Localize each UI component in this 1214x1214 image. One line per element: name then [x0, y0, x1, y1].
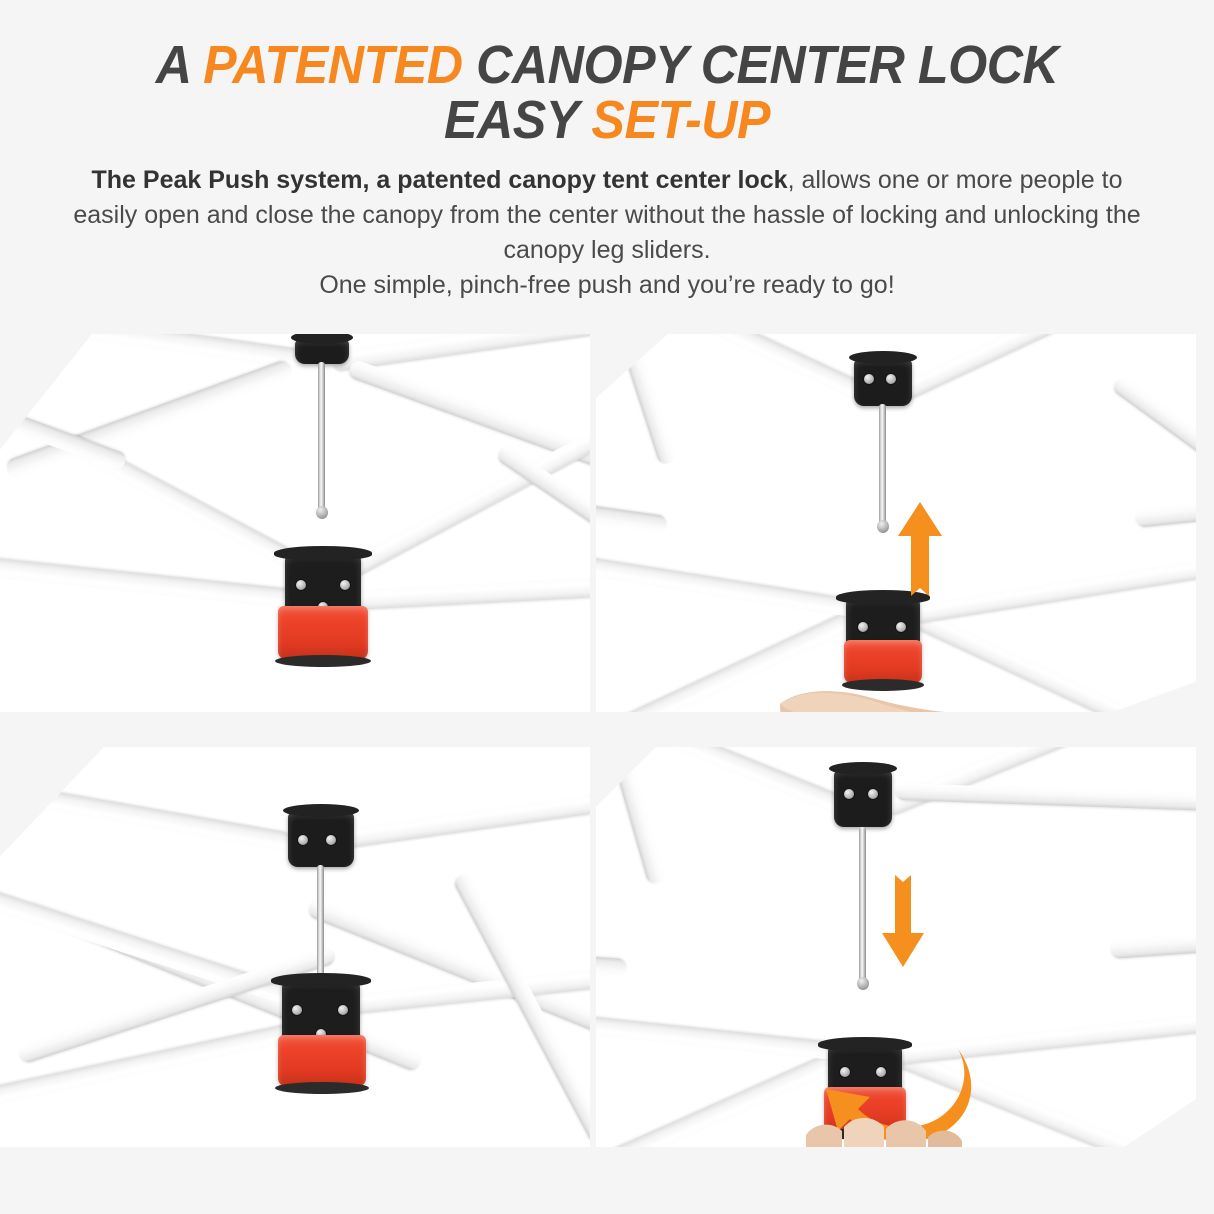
- push-rod-tip: [857, 977, 869, 990]
- hand-open-palm: [774, 664, 1104, 712]
- push-rod-tip: [316, 506, 328, 519]
- frame-bar-outer-right: [896, 783, 1196, 812]
- hub-screw-right: [340, 580, 350, 590]
- frame-bar-mid-right: [336, 433, 590, 584]
- headline-highlight-setup: SET-UP: [591, 90, 770, 150]
- center-hub-top: [854, 358, 912, 406]
- panel-locked-collapsed: [0, 747, 590, 1147]
- panel-4-photo: [596, 747, 1196, 1147]
- push-rod: [859, 827, 866, 983]
- frame-bar-horiz-right: [913, 554, 1196, 623]
- top-hub-screw-right: [886, 374, 896, 384]
- arrow-down-icon: [880, 867, 926, 967]
- hub-screw-right: [338, 1005, 348, 1015]
- hub-screw-left: [292, 1005, 302, 1015]
- top-hub-screw-right: [868, 789, 878, 799]
- hub-screw-left: [296, 580, 306, 590]
- frame-bar-side-left: [596, 942, 627, 977]
- center-hub-top: [295, 338, 349, 364]
- frame-bar-side-right: [1110, 926, 1196, 959]
- frame-bar-outer-left: [613, 755, 665, 885]
- headline-text-b: CANOPY CENTER LOCK: [463, 35, 1059, 95]
- panel-open-extended: [0, 334, 590, 712]
- peak-push-lock: [278, 1035, 366, 1087]
- frame-bar-outer-right: [1111, 376, 1196, 507]
- frame-bar-top-right: [319, 789, 590, 852]
- push-rod: [879, 404, 886, 526]
- frame-bar-side-right: [1135, 486, 1196, 528]
- top-hub-screw-left: [844, 789, 854, 799]
- frame-bar-horiz-right: [335, 574, 590, 611]
- arrow-up-icon: [896, 502, 944, 604]
- peak-push-lock: [278, 606, 368, 660]
- headline-text-a: A: [156, 35, 203, 95]
- headline-text-c: EASY: [444, 90, 591, 150]
- hub-screw-left: [858, 622, 868, 632]
- panel-push-up: [596, 334, 1196, 712]
- frame-bar-top-left: [0, 778, 292, 852]
- panel-pull-down: [596, 747, 1196, 1147]
- panel-1-photo: [0, 334, 590, 712]
- frame-bar-outer-left: [623, 346, 676, 465]
- top-hub-screw-left: [298, 835, 308, 845]
- infographic-page: A PATENTED CANOPY CENTER LOCK EASY SET-U…: [0, 0, 1214, 1214]
- photo-grid: [0, 332, 1214, 1162]
- description-bold-lead: The Peak Push system, a patented canopy …: [92, 166, 788, 194]
- description-text: The Peak Push system, a patented canopy …: [72, 163, 1142, 303]
- description-closing: One simple, pinch-free push and you’re r…: [72, 268, 1142, 303]
- push-rod: [318, 362, 325, 512]
- headline-highlight-patented: PATENTED: [203, 35, 462, 95]
- hub-screw-right: [896, 622, 906, 632]
- panel-2-photo: [596, 334, 1196, 712]
- push-rod-tip: [877, 520, 889, 533]
- top-hub-screw-right: [326, 835, 336, 845]
- page-title: A PATENTED CANOPY CENTER LOCK EASY SET-U…: [42, 38, 1171, 148]
- panel-3-photo: [0, 747, 590, 1147]
- frame-bar-side-left: [596, 484, 667, 534]
- push-rod: [317, 865, 324, 979]
- top-hub-screw-left: [864, 374, 874, 384]
- headline-line1: A PATENTED CANOPY CENTER LOCK: [156, 35, 1059, 95]
- hand-pinch-fingers: [792, 1107, 982, 1147]
- center-hub-top: [834, 769, 892, 827]
- frame-bar-diag-left: [5, 359, 293, 479]
- frame-bar-horiz-left: [0, 555, 321, 610]
- headline-line2: EASY SET-UP: [42, 93, 1171, 148]
